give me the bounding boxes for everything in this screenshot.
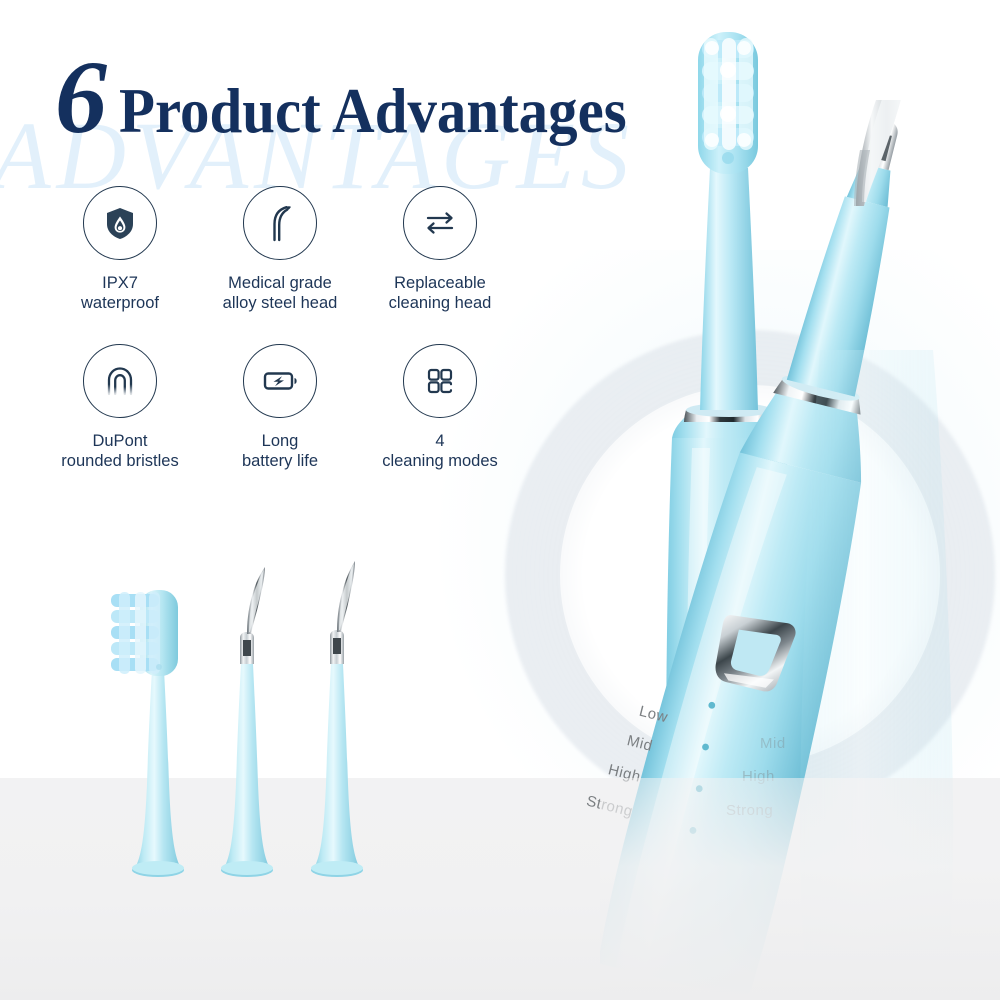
accessory-heads-group (95, 552, 415, 892)
feature-icon-frame (83, 344, 157, 418)
feature-long-battery-life: Long battery life (200, 344, 360, 502)
four-squares-grid-icon (420, 361, 460, 401)
feature-label: IPX7 waterproof (81, 273, 159, 313)
reflection-mode-label-high: High (742, 768, 775, 785)
feature-four-cleaning-modes: 4 cleaning modes (360, 344, 520, 502)
device-reflection (760, 330, 1000, 950)
feature-dupont-bristles: DuPont rounded bristles (40, 344, 200, 502)
feature-icon-frame (403, 344, 477, 418)
title-text: Product Advantages (119, 79, 627, 143)
feature-icon-frame (243, 344, 317, 418)
feature-grid: IPX7 waterproof Medical grade alloy stee… (40, 186, 520, 502)
accessory-scaler-tip-1 (221, 567, 273, 877)
feature-label: Long battery life (242, 431, 318, 471)
rounded-bristle-arch-icon (99, 360, 141, 402)
product-image-canvas: ADVANTAGES 6 Product Advantages IPX7 wat… (0, 0, 1000, 1000)
battery-charging-icon (258, 359, 302, 403)
feature-label: Replaceable cleaning head (389, 273, 492, 313)
feature-label: 4 cleaning modes (382, 431, 498, 471)
bristle-tufts (111, 592, 160, 674)
reflection-mode-label-mid: Mid (760, 735, 786, 752)
accessory-scaler-tip-2 (311, 561, 363, 877)
advantage-count: 6 (55, 46, 105, 150)
feature-icon-frame (83, 186, 157, 260)
feature-replaceable-head: Replaceable cleaning head (360, 186, 520, 344)
feature-ipx7-waterproof: IPX7 waterproof (40, 186, 200, 344)
page-title: 6 Product Advantages (55, 46, 671, 150)
shield-waterdrop-icon (100, 203, 140, 243)
feature-label: Medical grade alloy steel head (223, 273, 338, 313)
feature-label: DuPont rounded bristles (61, 431, 178, 471)
feature-alloy-steel-head: Medical grade alloy steel head (200, 186, 360, 344)
curved-scaler-tip-icon (259, 202, 301, 244)
accessory-brush-head (111, 590, 184, 877)
feature-icon-frame (243, 186, 317, 260)
reflection-mode-label-strong: Strong (726, 802, 773, 819)
feature-icon-frame (403, 186, 477, 260)
swap-arrows-icon (420, 203, 460, 243)
